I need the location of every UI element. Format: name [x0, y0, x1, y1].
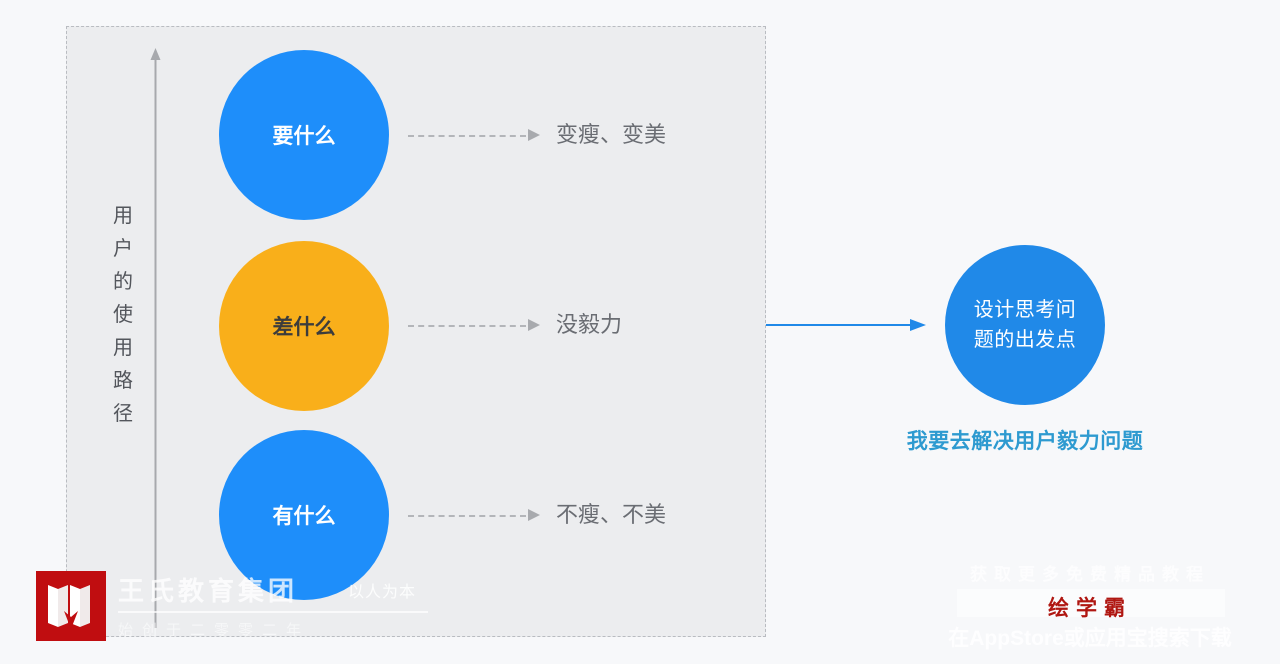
watermark-left: 王氏教育集团 以人为本 始创于二零零二年	[36, 563, 436, 648]
watermark-left-subtitle: 以人为本	[348, 578, 416, 602]
watermark-right: 获取更多免费精品教程 绘学霸 在AppStore或应用宝搜索下载	[940, 560, 1240, 655]
user-path-label: 用户的使用路径	[106, 200, 140, 431]
slide-canvas: 用户的使用路径 要什么 差什么 有什么 变瘦、变美 没毅力 不瘦、不美	[0, 0, 1280, 664]
conclusion-circle[interactable]: 设计思考问 题的出发点	[945, 245, 1105, 405]
dashed-line-icon	[408, 135, 526, 137]
step-circle-3-label: 有什么	[273, 500, 336, 530]
watermark-left-divider	[118, 611, 428, 613]
conclusion-line-1: 设计思考问	[974, 295, 1077, 325]
watermark-right-top: 获取更多免费精品教程	[940, 560, 1240, 585]
watermark-right-brand: 绘学霸	[940, 592, 1240, 622]
dashed-line-icon	[408, 515, 526, 517]
watermark-left-title: 王氏教育集团	[118, 571, 298, 608]
step-circle-1-label: 要什么	[273, 120, 336, 150]
arrow-right-icon	[766, 316, 926, 334]
watermark-left-footer: 始创于二零零二年	[118, 619, 310, 640]
dashed-line-icon	[408, 325, 526, 327]
up-arrow-icon	[150, 48, 161, 628]
dashed-arrow-right-icon	[528, 319, 540, 331]
step-circle-2-label: 差什么	[273, 311, 336, 341]
step-result-2: 没毅力	[556, 307, 622, 339]
step-circle-1[interactable]: 要什么	[219, 50, 389, 220]
conclusion-caption: 我要去解决用户毅力问题	[880, 425, 1170, 455]
conclusion-line-2: 题的出发点	[974, 325, 1077, 355]
watermark-right-bottom: 在AppStore或应用宝搜索下载	[940, 622, 1240, 652]
dashed-arrow-right-icon	[528, 509, 540, 521]
dashed-arrow-right-icon	[528, 129, 540, 141]
step-result-1: 变瘦、变美	[556, 117, 666, 149]
step-result-3: 不瘦、不美	[556, 497, 666, 529]
step-circle-2[interactable]: 差什么	[219, 241, 389, 411]
wangshi-logo-icon	[36, 571, 106, 641]
